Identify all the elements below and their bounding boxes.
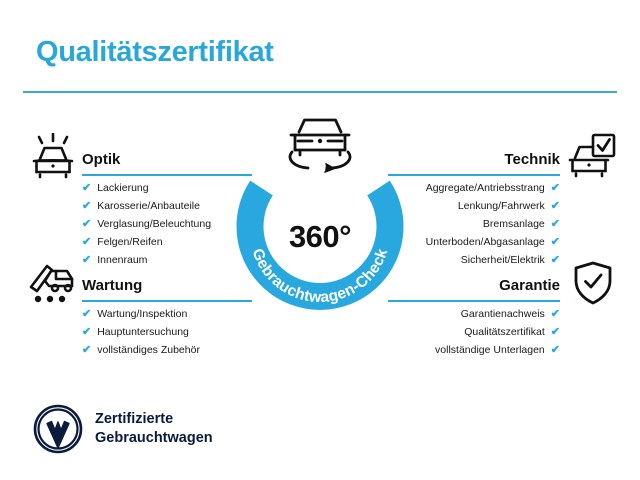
list-item-label: Qualitätszertifikat	[464, 327, 545, 338]
list-item-label: Wartung/Inspektion	[97, 309, 187, 320]
check-icon: ✔	[82, 309, 91, 320]
car-checkbox-icon	[567, 132, 617, 185]
car-service-lift-icon	[27, 259, 79, 310]
list-item-label: Karosserie/Anbauteile	[97, 201, 200, 212]
list-item-label: Bremsanlage	[483, 219, 545, 230]
list-item-label: Sicherheit/Elektrik	[461, 255, 545, 266]
page-title: Qualitätszertifikat	[36, 36, 274, 69]
section-header-wartung: Wartung	[82, 268, 252, 302]
checklist-garantie: Garantienachweis ✔ Qualitätszertifikat ✔…	[388, 309, 560, 356]
check-icon: ✔	[82, 201, 91, 212]
list-item-label: Unterboden/Abgasanlage	[426, 237, 545, 248]
footer-brand: Zertifizierte Gebrauchtwagen	[33, 404, 213, 454]
list-item: ✔ Innenraum	[82, 255, 252, 266]
shield-check-icon	[570, 260, 616, 311]
check-icon: ✔	[82, 183, 91, 194]
section-header-optik: Optik	[82, 142, 252, 176]
check-icon: ✔	[82, 327, 91, 338]
check-icon: ✔	[551, 219, 560, 230]
section-header-garantie: Garantie	[388, 268, 560, 302]
list-item: ✔ Lackierung	[82, 183, 252, 194]
section-underline-technik	[388, 174, 560, 176]
list-item: vollständige Unterlagen ✔	[388, 345, 560, 356]
list-item: ✔ Wartung/Inspektion	[82, 309, 252, 320]
list-item-label: Lenkung/Fahrwerk	[458, 201, 545, 212]
header-divider	[23, 91, 617, 93]
list-item-label: Innenraum	[97, 255, 147, 266]
check-icon: ✔	[551, 237, 560, 248]
brand-text: Zertifizierte Gebrauchtwagen	[95, 410, 213, 447]
list-item-label: Verglasung/Beleuchtung	[97, 219, 211, 230]
list-item-label: Aggregate/Antriebsstrang	[426, 183, 545, 194]
list-item: Sicherheit/Elektrik ✔	[388, 255, 560, 266]
list-item: ✔ Verglasung/Beleuchtung	[82, 219, 252, 230]
section-garantie: Garantie Garantienachweis ✔ Qualitätszer…	[388, 268, 560, 363]
list-item-label: Lackierung	[97, 183, 148, 194]
volkswagen-logo	[33, 404, 83, 454]
check-icon: ✔	[551, 345, 560, 356]
check-icon: ✔	[551, 309, 560, 320]
check-icon: ✔	[82, 237, 91, 248]
badge-360-gebrauchtwagen-check: Gebrauchtwagen-Check 360°	[228, 140, 412, 312]
list-item: Unterboden/Abgasanlage ✔	[388, 237, 560, 248]
list-item-label: vollständiges Zubehör	[97, 345, 200, 356]
car-front-shine-icon	[27, 133, 79, 186]
check-icon: ✔	[551, 327, 560, 338]
list-item: Aggregate/Antriebsstrang ✔	[388, 183, 560, 194]
checklist-wartung: ✔ Wartung/Inspektion ✔ Hauptuntersuchung…	[82, 309, 252, 356]
list-item: Lenkung/Fahrwerk ✔	[388, 201, 560, 212]
list-item: ✔ Hauptuntersuchung	[82, 327, 252, 338]
section-underline-garantie	[388, 300, 560, 302]
list-item: ✔ Felgen/Reifen	[82, 237, 252, 248]
brand-line-1: Zertifizierte	[95, 410, 213, 429]
check-icon: ✔	[551, 201, 560, 212]
list-item-label: Garantienachweis	[461, 309, 545, 320]
section-header-technik: Technik	[388, 142, 560, 176]
checklist-optik: ✔ Lackierung ✔ Karosserie/Anbauteile ✔ V…	[82, 183, 252, 266]
section-optik: Optik ✔ Lackierung ✔ Karosserie/Anbautei…	[82, 142, 252, 273]
list-item-label: Hauptuntersuchung	[97, 327, 189, 338]
list-item-label: Felgen/Reifen	[97, 237, 162, 248]
list-item: ✔ vollständiges Zubehör	[82, 345, 252, 356]
badge-degrees: 360°	[228, 219, 412, 255]
section-title-technik: Technik	[504, 151, 560, 168]
section-technik: Technik Aggregate/Antriebsstrang ✔ Lenku…	[388, 142, 560, 273]
list-item: Bremsanlage ✔	[388, 219, 560, 230]
section-title-garantie: Garantie	[499, 277, 560, 294]
car-rotation-icon	[278, 112, 362, 174]
check-icon: ✔	[82, 345, 91, 356]
section-underline-optik	[82, 174, 252, 176]
section-underline-wartung	[82, 300, 252, 302]
check-icon: ✔	[551, 255, 560, 266]
list-item: Qualitätszertifikat ✔	[388, 327, 560, 338]
brand-line-2: Gebrauchtwagen	[95, 429, 213, 448]
list-item: Garantienachweis ✔	[388, 309, 560, 320]
check-icon: ✔	[551, 183, 560, 194]
section-title-optik: Optik	[82, 151, 120, 168]
section-wartung: Wartung ✔ Wartung/Inspektion ✔ Hauptunte…	[82, 268, 252, 363]
list-item: ✔ Karosserie/Anbauteile	[82, 201, 252, 212]
section-title-wartung: Wartung	[82, 277, 142, 294]
check-icon: ✔	[82, 219, 91, 230]
quality-certificate-page: Qualitätszertifikat Optik ✔ Lackierung ✔…	[0, 0, 640, 480]
check-icon: ✔	[82, 255, 91, 266]
list-item-label: vollständige Unterlagen	[435, 345, 545, 356]
checklist-technik: Aggregate/Antriebsstrang ✔ Lenkung/Fahrw…	[388, 183, 560, 266]
